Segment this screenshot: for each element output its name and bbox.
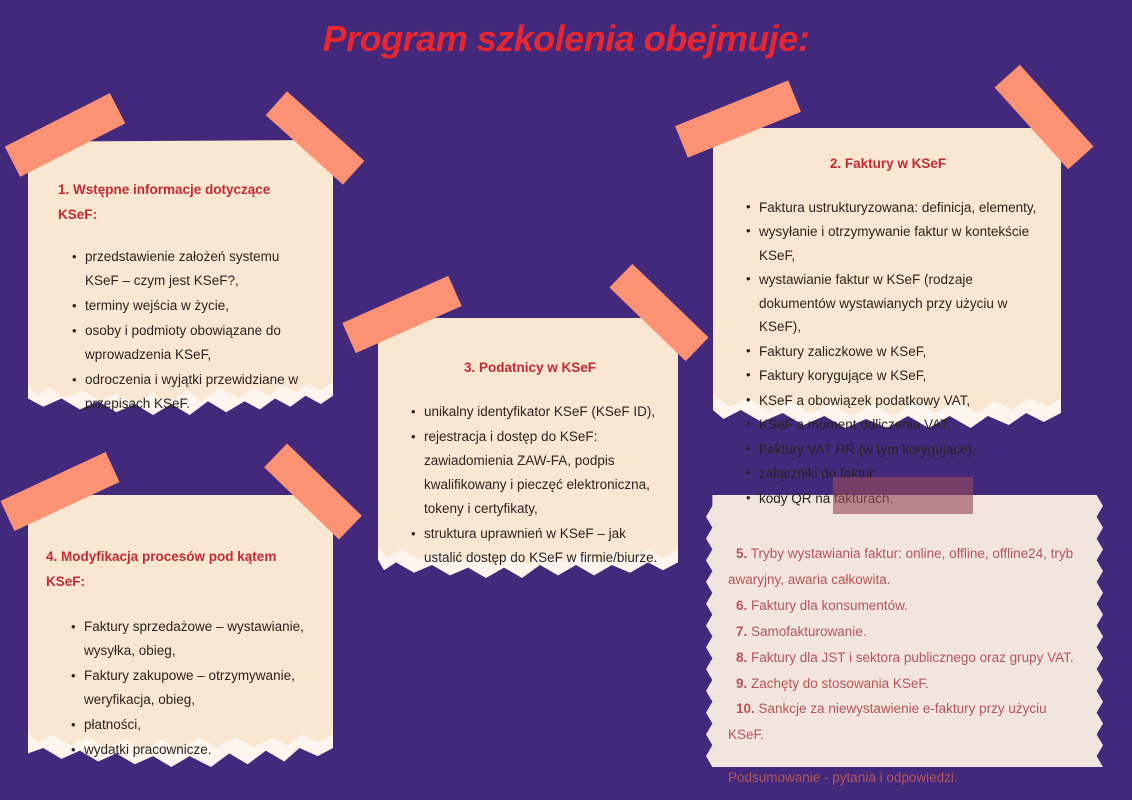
note-card-5: 5. Tryby wystawiania faktur: online, off… <box>706 495 1103 767</box>
numbered-line: 6. Faktury dla konsumentów. <box>728 593 1081 619</box>
list-item: płatności, <box>84 713 313 737</box>
note-card-3: 3. Podatnicy w KSeF unikalny identyfikat… <box>378 318 678 578</box>
list-item: osoby i podmioty obowiązane do wprowadze… <box>85 319 307 367</box>
numbered-line: 5. Tryby wystawiania faktur: online, off… <box>728 541 1081 593</box>
line-number: 7. <box>736 624 747 639</box>
list-item: wystawianie faktur w KSeF (rodzaje dokum… <box>759 268 1039 338</box>
card-content: 1. Wstępne informacje dotyczące KSeF: pr… <box>28 140 333 416</box>
line-text: Tryby wystawiania faktur: online, offlin… <box>728 546 1073 587</box>
card-title: 2. Faktury w KSeF <box>737 152 1039 177</box>
numbered-line: 10. Sankcje za niewystawienie e-faktury … <box>728 696 1081 748</box>
card-content: 4. Modyfikacja procesów pod kątem KSeF: … <box>28 495 333 762</box>
card-content: 2. Faktury w KSeF Faktura ustrukturyzowa… <box>713 128 1061 510</box>
list-item: KSeF a obowiązek podatkowy VAT, <box>759 389 1039 412</box>
list-item: rejestracja i dostęp do KSeF: zawiadomie… <box>424 425 660 521</box>
list-item: Faktury korygujące w KSeF, <box>759 364 1039 387</box>
line-text: Faktury dla konsumentów. <box>747 598 908 613</box>
list-item: terminy wejścia w życie, <box>85 294 307 318</box>
line-text: Samofakturowanie. <box>747 624 866 639</box>
card-title: 1. Wstępne informacje dotyczące KSeF: <box>58 178 307 228</box>
line-text: Zachęty do stosowania KSeF. <box>747 676 929 691</box>
numbered-line: 8. Faktury dla JST i sektora publicznego… <box>728 645 1081 671</box>
list-item: Faktury sprzedażowe – wystawianie, wysył… <box>84 615 313 663</box>
line-text: Faktury dla JST i sektora publicznego or… <box>747 650 1073 665</box>
list-item: wysyłanie i otrzymywanie faktur w kontek… <box>759 220 1039 267</box>
line-number: 10. <box>736 701 755 716</box>
list-item: przedstawienie założeń systemu KSeF – cz… <box>85 245 307 293</box>
list-item: Faktury VAT RR (w tym korygujące), <box>759 438 1039 461</box>
list-item: wydatki pracownicze. <box>84 738 313 762</box>
list-item: Faktura ustrukturyzowana: definicja, ele… <box>759 196 1039 219</box>
note-card-1: 1. Wstępne informacje dotyczące KSeF: pr… <box>28 140 333 415</box>
line-number: 6. <box>736 598 747 613</box>
list-item: KSeF a moment odliczenia VAT, <box>759 413 1039 436</box>
numbered-line: 9. Zachęty do stosowania KSeF. <box>728 671 1081 697</box>
numbered-line: 7. Samofakturowanie. <box>728 619 1081 645</box>
summary-line: Podsumowanie - pytania i odpowiedzi. <box>728 770 1081 785</box>
card-content: 3. Podatnicy w KSeF unikalny identyfikat… <box>378 318 678 570</box>
card-content: 5. Tryby wystawiania faktur: online, off… <box>706 495 1103 785</box>
bullet-list: Faktura ustrukturyzowana: definicja, ele… <box>737 196 1039 510</box>
card-title: 4. Modyfikacja procesów pod kątem KSeF: <box>46 545 313 595</box>
list-item: Faktury zaliczkowe w KSeF, <box>759 340 1039 363</box>
page-title: Program szkolenia obejmuje: <box>0 18 1132 60</box>
list-item: Faktury zakupowe – otrzymywanie, weryfik… <box>84 664 313 712</box>
list-item: odroczenia i wyjątki przewidziane w prze… <box>85 368 307 416</box>
card-title: 3. Podatnicy w KSeF <box>400 356 660 381</box>
line-number: 8. <box>736 650 747 665</box>
tape-strip-center-icon <box>833 477 973 514</box>
list-item: struktura uprawnień w KSeF – jak ustalić… <box>424 522 660 570</box>
bullet-list: Faktury sprzedażowe – wystawianie, wysył… <box>46 615 313 762</box>
line-number: 5. <box>736 546 747 561</box>
line-number: 9. <box>736 676 747 691</box>
bullet-list: przedstawienie założeń systemu KSeF – cz… <box>58 245 307 416</box>
bullet-list: unikalny identyfikator KSeF (KSeF ID), r… <box>400 400 660 570</box>
note-card-4: 4. Modyfikacja procesów pod kątem KSeF: … <box>28 495 333 767</box>
list-item: unikalny identyfikator KSeF (KSeF ID), <box>424 400 660 424</box>
note-card-2: 2. Faktury w KSeF Faktura ustrukturyzowa… <box>713 128 1061 428</box>
line-text: Sankcje za niewystawienie e-faktury przy… <box>728 701 1047 742</box>
